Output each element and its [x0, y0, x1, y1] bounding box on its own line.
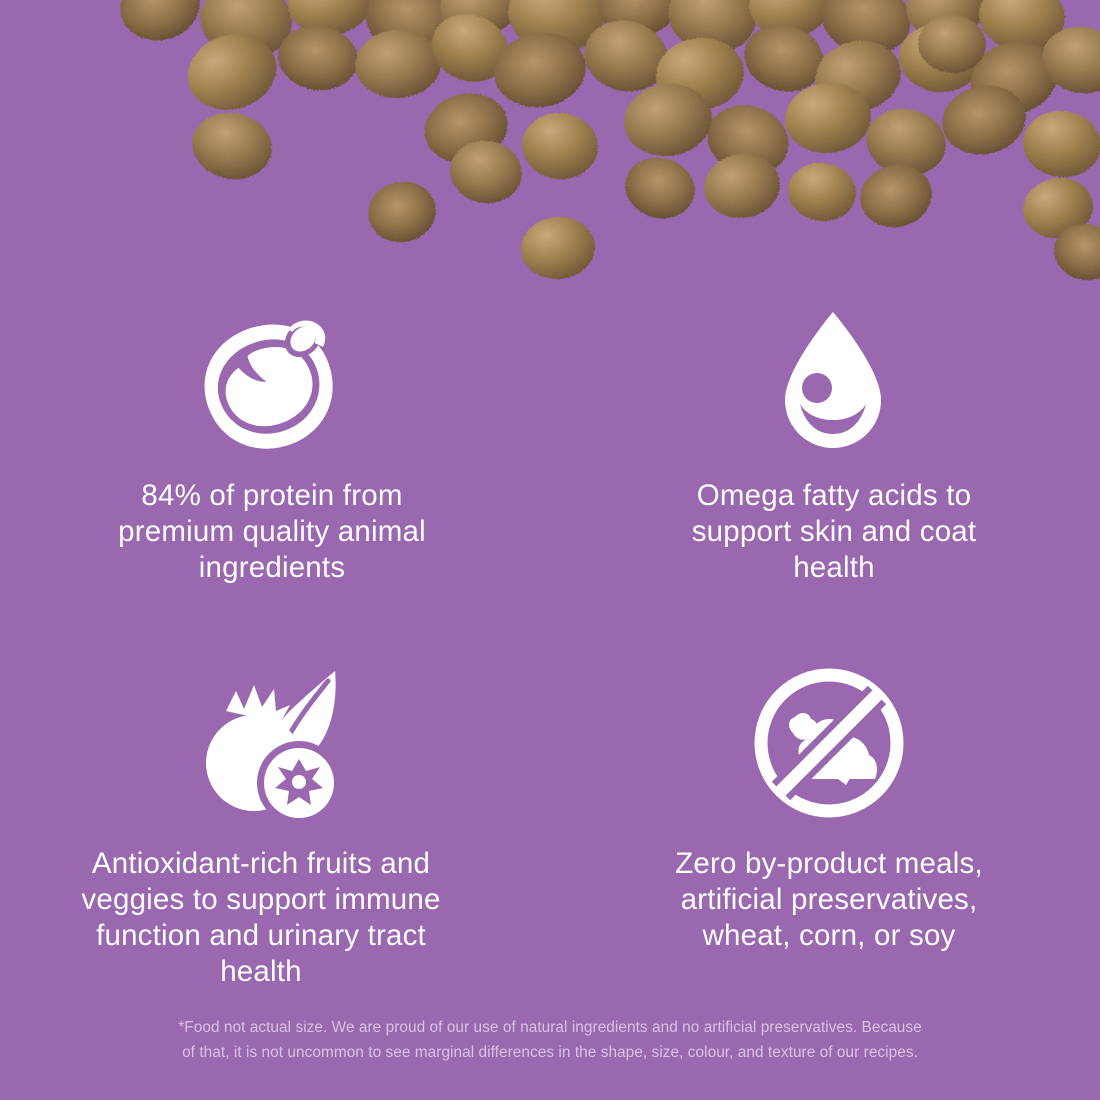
footnote-line-2: of that, it is not uncommon to see margi… — [0, 1041, 1100, 1066]
feature-protein-text: 84% of protein from premium quality anim… — [92, 478, 452, 586]
kibble-photo-band — [0, 0, 1100, 292]
feature-no-byproduct: Zero by-product meals, artificial preser… — [550, 642, 1100, 992]
feature-fruits: Antioxidant-rich fruits and veggies to s… — [0, 642, 550, 992]
footnote-disclaimer: *Food not actual size. We are proud of o… — [0, 1016, 1100, 1066]
feature-omega: Omega fatty acids to support skin and co… — [550, 292, 1100, 642]
fruits-berries-icon — [192, 668, 352, 818]
feature-no-byproduct-text: Zero by-product meals, artificial preser… — [649, 846, 1009, 954]
feature-omega-text: Omega fatty acids to support skin and co… — [654, 478, 1014, 586]
oil-droplet-icon — [753, 306, 913, 456]
feature-protein: 84% of protein from premium quality anim… — [0, 292, 550, 642]
feature-fruits-text: Antioxidant-rich fruits and veggies to s… — [81, 846, 441, 990]
meat-cut-icon — [190, 312, 350, 462]
footnote-line-1: *Food not actual size. We are proud of o… — [0, 1016, 1100, 1041]
feature-grid: 84% of protein from premium quality anim… — [0, 292, 1100, 992]
no-byproduct-icon — [749, 668, 909, 818]
